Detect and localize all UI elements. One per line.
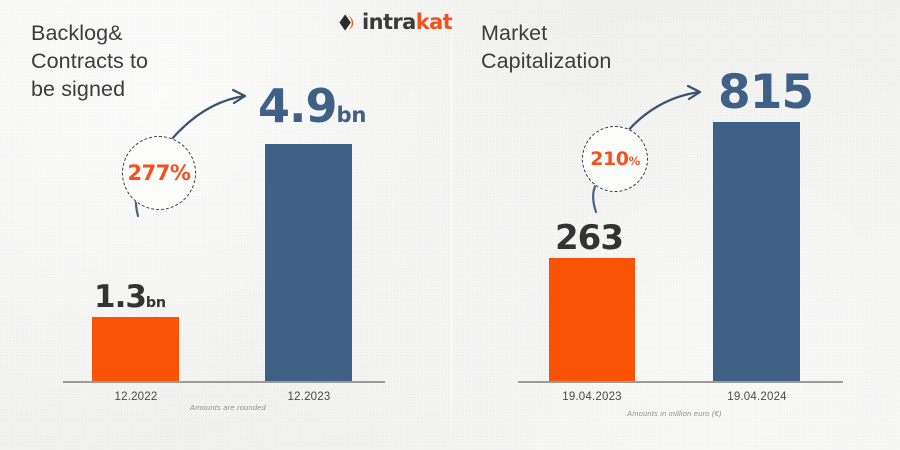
bar-value-number-12-2022: 1.3: [94, 279, 146, 315]
page-title-left: Backlog& Contracts to be signed: [31, 19, 148, 103]
bar-19-04-2024: [713, 122, 800, 381]
intrakat-logo-left: intrakat: [338, 12, 452, 33]
growth-badge-text-right: 210%: [590, 150, 639, 169]
bar-value-number-19-04-2023: 263: [555, 218, 623, 258]
x-axis-left: [63, 381, 385, 383]
intrakat-diamond-icon: [338, 13, 357, 32]
bar-value-12-2022: 1.3bn: [94, 279, 166, 315]
logo-text-intra: intra: [362, 10, 416, 34]
growth-badge-left: 277%: [122, 136, 196, 210]
x-label-19-04-2023: 19.04.2023: [542, 391, 642, 403]
x-axis-right: [518, 381, 843, 383]
bar-value-number-12-2023: 4.9: [258, 79, 337, 133]
growth-badge-value-right: 210: [590, 148, 628, 170]
bar-19-04-2023: [549, 258, 635, 381]
growth-badge-value-left: 277: [128, 161, 170, 185]
bar-12-2023: [265, 144, 352, 381]
bar-value-unit-12-2022: bn: [146, 295, 166, 311]
growth-badge-text-left: 277%: [128, 163, 191, 184]
bar-value-number-19-04-2024: 815: [718, 65, 813, 120]
x-label-19-04-2024: 19.04.2024: [707, 391, 807, 403]
x-label-12-2023: 12.2023: [259, 391, 359, 403]
bar-value-unit-12-2023: bn: [337, 102, 367, 127]
footnote-left: Amounts are rounded: [190, 403, 266, 412]
page-title-right: Market Capitalization: [481, 19, 611, 75]
infographic-root: Backlog& Contracts to be signed intrakat…: [0, 0, 900, 450]
x-label-12-2022: 12.2022: [86, 391, 186, 403]
bar-value-12-2023: 4.9bn: [258, 79, 366, 133]
panel-market-cap: Market Capitalization intrakat 263 815 1…: [450, 0, 900, 450]
bar-value-19-04-2023: 263: [555, 218, 623, 258]
footnote-right: Amounts in million euro (€): [627, 409, 722, 418]
growth-badge-right: 210%: [582, 126, 648, 192]
growth-badge-suffix-right: %: [628, 154, 639, 168]
panel-backlog: Backlog& Contracts to be signed intrakat…: [0, 0, 450, 450]
bar-value-19-04-2024: 815: [718, 65, 813, 120]
bar-12-2022: [92, 317, 179, 381]
growth-badge-suffix-left: %: [170, 161, 191, 185]
logo-text-kat: kat: [416, 10, 452, 34]
